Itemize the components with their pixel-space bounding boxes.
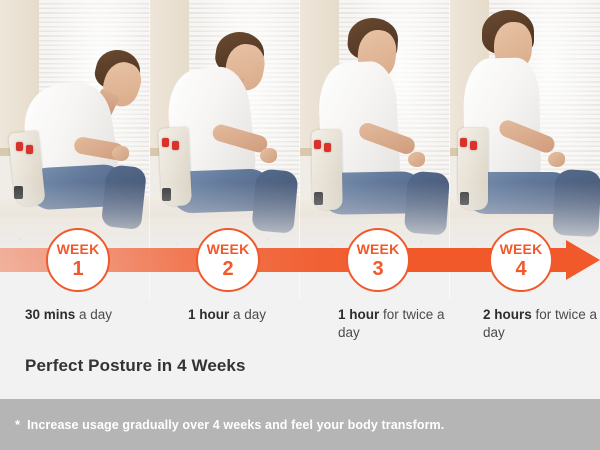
brace-led-indicator [470,141,477,150]
week-number: 2 [222,259,233,279]
asterisk-icon: * [15,417,20,432]
week-number: 3 [372,259,383,279]
week-caption-1: 30 mins a day [25,306,153,324]
brace-led-indicator [314,140,321,149]
week-label: WEEK [57,242,100,256]
brace-led-indicator [172,141,179,150]
footer-note-text: Increase usage gradually over 4 weeks an… [27,418,444,432]
brace-led-indicator [26,145,33,154]
week-caption-duration: 30 mins [25,307,75,322]
arrow-right-icon [566,240,600,280]
week-caption-4: 2 hours for twice a day [483,306,600,342]
week-caption-duration: 2 hours [483,307,532,322]
brace-led-indicator [324,143,331,152]
week-number: 1 [72,259,83,279]
week-caption-duration: 1 hour [338,307,379,322]
week-caption-2: 1 hour a day [188,306,316,324]
week-label: WEEK [207,242,250,256]
week-marker-4[interactable]: WEEK 4 [489,228,553,292]
week-caption-frequency: a day [229,307,266,322]
week-caption-3: 1 hour for twice a day [338,306,466,342]
week-number: 4 [515,259,526,279]
page-title: Perfect Posture in 4 Weeks [25,356,246,376]
week-label: WEEK [357,242,400,256]
brace-led-indicator [16,142,23,151]
week-caption-frequency: a day [75,307,112,322]
week-caption-duration: 1 hour [188,307,229,322]
footer-note-bar: * Increase usage gradually over 4 weeks … [0,399,600,450]
week-marker-2[interactable]: WEEK 2 [196,228,260,292]
week-marker-3[interactable]: WEEK 3 [346,228,410,292]
brace-led-indicator [162,138,169,147]
brace-led-indicator [460,138,467,147]
week-label: WEEK [500,242,543,256]
week-marker-1[interactable]: WEEK 1 [46,228,110,292]
